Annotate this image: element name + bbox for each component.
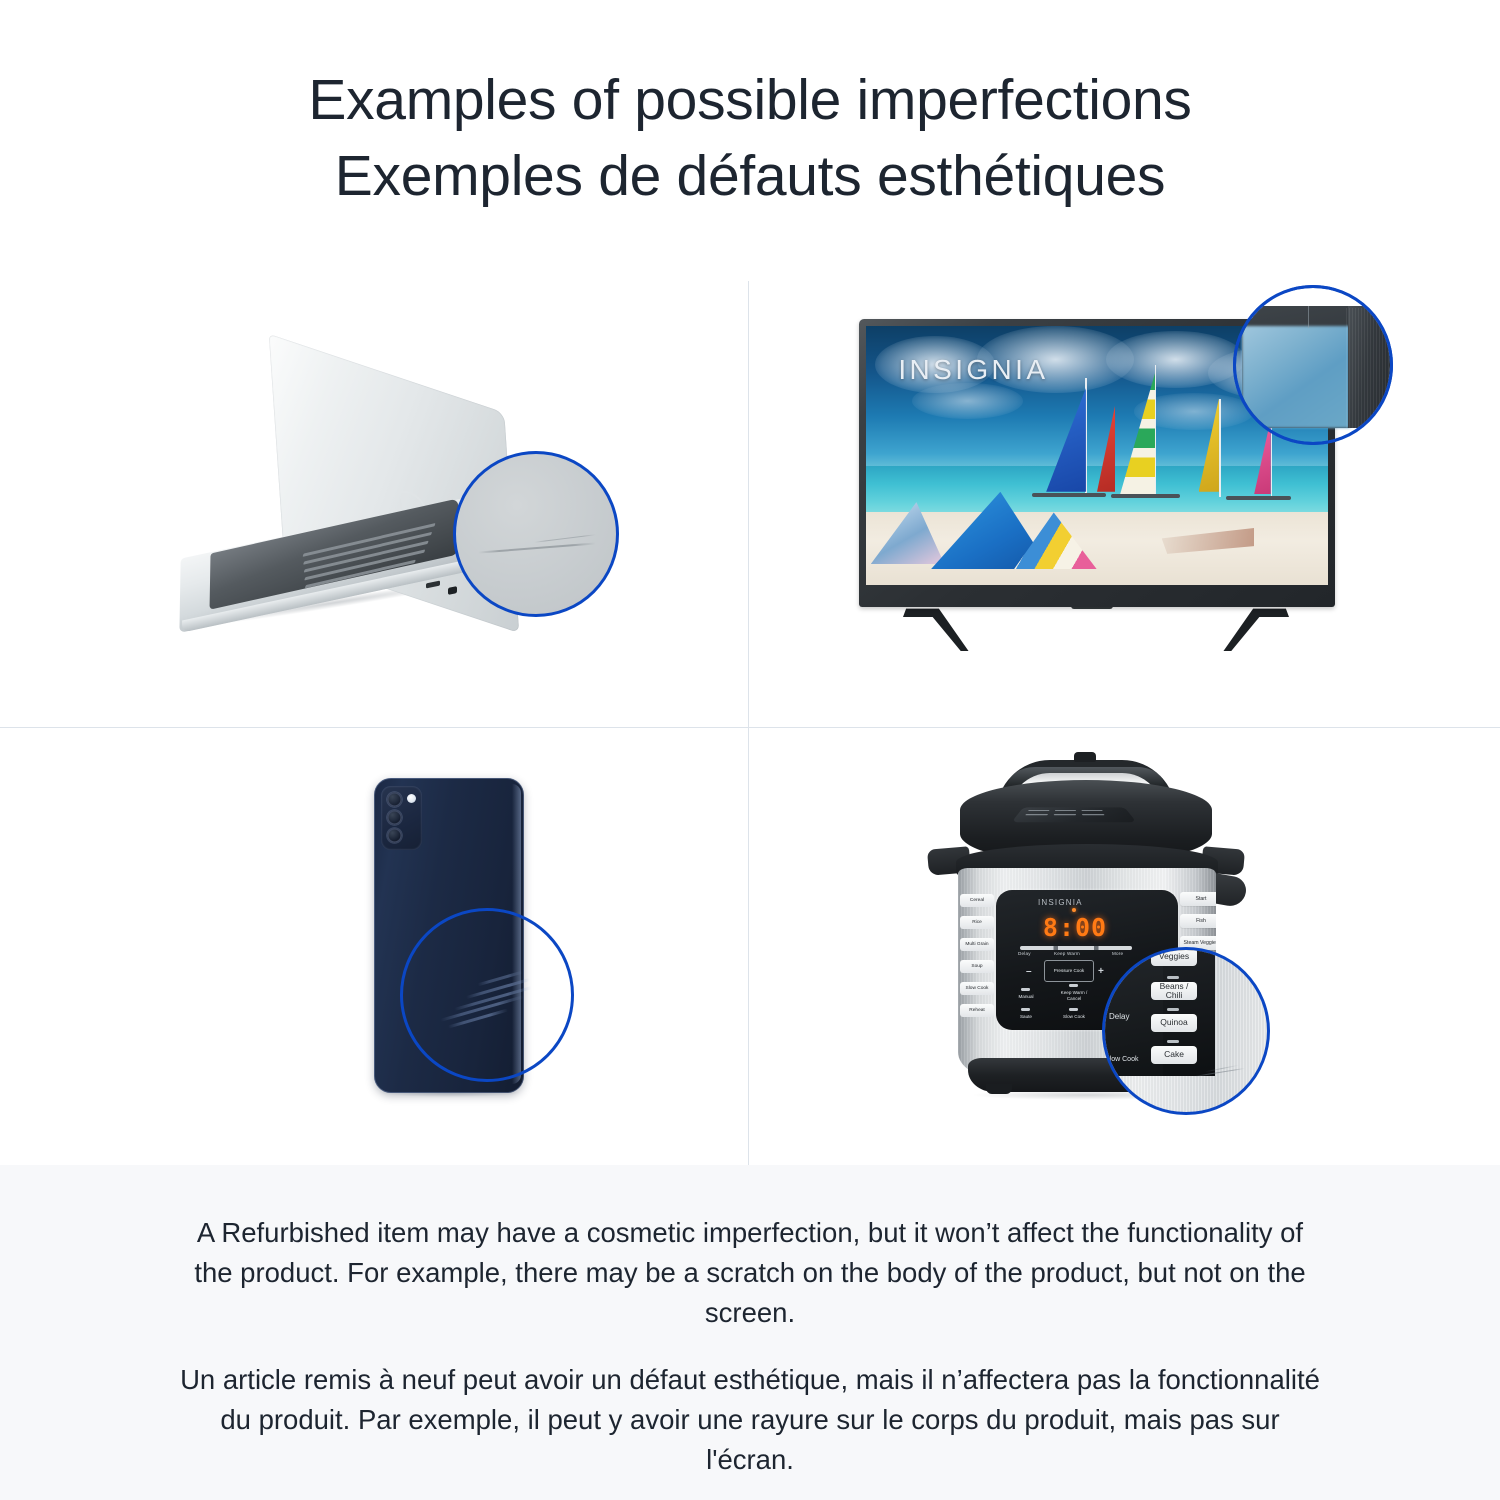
cooker-button-left-1[interactable]: Rice <box>960 916 994 929</box>
camera-flash-icon <box>407 794 416 803</box>
cooker-status-indicator <box>1072 908 1076 912</box>
magnifier-laptop-scratch <box>453 451 619 617</box>
magnifier-phone-scratches <box>400 908 574 1082</box>
cooker-button-bottom-3[interactable]: Saute <box>1006 1014 1046 1020</box>
refurbished-imperfections-infographic: Examples of possible imperfections Exemp… <box>0 0 1500 1500</box>
laptop-scratch-mark <box>478 542 596 553</box>
tv-scene-mast <box>1219 399 1221 497</box>
cooker-button-left-3[interactable]: Soup <box>960 960 994 973</box>
cooker-button-start[interactable]: Start <box>1180 892 1216 906</box>
cooker-minus-button[interactable]: – <box>1026 966 1032 977</box>
magnifier-tv-content <box>1236 288 1390 442</box>
panel-smartphone <box>0 728 748 1165</box>
magnifier-label-slow-cook: Slow Cook <box>1105 1056 1138 1063</box>
cooker-button-fish[interactable]: Fish <box>1180 914 1216 928</box>
laptop-scratch-mark <box>534 534 596 543</box>
magnifier-button-tick <box>1167 1008 1179 1011</box>
magnifier-button-veggies[interactable]: Veggies <box>1151 948 1197 966</box>
cooker-button-bottom-1[interactable]: Keep Warm / Cancel <box>1054 990 1094 1001</box>
page-title-french: Exemples de défauts esthétiques <box>0 138 1500 214</box>
cooker-button-bottom-0[interactable]: Manual <box>1006 994 1046 1000</box>
tv-scene-hull <box>1226 496 1291 500</box>
camera-lens-icon <box>387 792 402 807</box>
magnifier-button-quinoa[interactable]: Quinoa <box>1151 1014 1197 1032</box>
magnifier-button-tick <box>1167 1040 1179 1043</box>
tv-bezel-grain-texture <box>1346 308 1390 428</box>
tv-bezel-seam <box>1308 306 1309 328</box>
tv-scene-hull <box>1032 493 1106 497</box>
page-title-english: Examples of possible imperfections <box>0 62 1500 138</box>
tv-scene-hull <box>1111 494 1180 498</box>
camera-lens-icon <box>387 810 402 825</box>
cooker-label-keep-warm: Keep Warm <box>1054 951 1080 956</box>
tv-stand-right <box>1211 605 1289 651</box>
cooker-button-left-2[interactable]: Multi Grain <box>960 938 994 951</box>
camera-lens-icon <box>387 828 402 843</box>
cooker-label-delay: Delay <box>1018 951 1031 956</box>
magnifier-tv-bezel <box>1233 285 1393 445</box>
tv-stand-left <box>903 605 981 651</box>
cooker-pressure-cook-button[interactable]: Pressure Cook <box>1044 960 1094 982</box>
cooker-button-left-5[interactable]: Reheat <box>960 1004 994 1017</box>
cooker-steam-valve <box>1074 752 1096 762</box>
tv-scene-cloud <box>912 383 1023 419</box>
cooker-button-left-0[interactable]: Cereal <box>960 894 994 907</box>
cooker-left-button-column: Cereal Rice Multi Grain Soup Slow Cook R… <box>960 894 994 1030</box>
disclaimer-french: Un article remis à neuf peut avoir un dé… <box>175 1360 1325 1480</box>
page-title: Examples of possible imperfections Exemp… <box>0 62 1500 214</box>
footer-disclaimer: A Refurbished item may have a cosmetic i… <box>0 1165 1500 1500</box>
tv-brand-logo: INSIGNIA <box>898 354 1048 386</box>
magnifier-button-beans-chili[interactable]: Beans / Chili <box>1151 982 1197 1000</box>
cooker-button-bottom-4[interactable]: Slow Cook <box>1054 1014 1094 1020</box>
phone-camera-module <box>381 786 422 850</box>
magnifier-button-cake[interactable]: Cake <box>1151 1046 1197 1064</box>
cooker-plus-button[interactable]: + <box>1098 966 1104 977</box>
magnifier-button-tick <box>1167 976 1179 979</box>
magnifier-cooker-scratch: Delay Slow Cook Veggies Beans / Chili Qu… <box>1102 947 1270 1115</box>
cooker-timer-display: 8:00 <box>1038 914 1112 940</box>
panel-laptop <box>0 281 748 727</box>
phone-scratch-mark <box>448 1009 508 1029</box>
disclaimer-english: A Refurbished item may have a cosmetic i… <box>175 1213 1325 1333</box>
cooker-foot-left <box>986 1084 1012 1094</box>
cooker-button-left-4[interactable]: Slow Cook <box>960 982 994 995</box>
magnifier-label-delay: Delay <box>1109 1012 1129 1021</box>
cooker-brand-logo: INSIGNIA <box>1038 898 1083 907</box>
